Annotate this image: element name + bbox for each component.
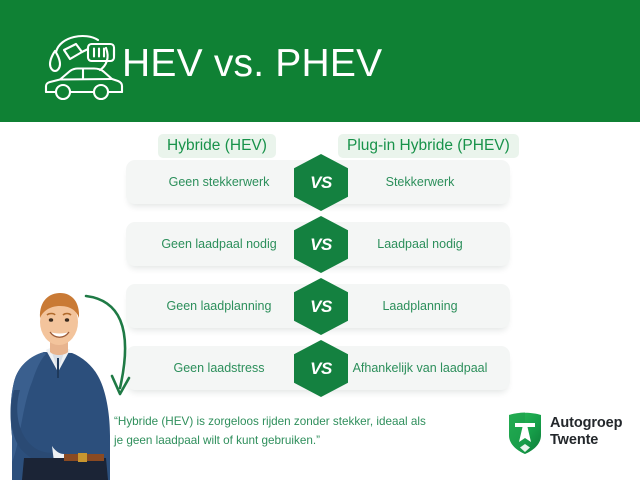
quote-line-1: “Hybride (HEV) is zorgeloos rijden zonde… bbox=[114, 412, 454, 431]
curved-arrow-pointing-to-quote bbox=[84, 292, 144, 404]
brand-logo: Autogroep Twente bbox=[506, 409, 634, 457]
quote-line-2: je geen laadpaal wilt of kunt gebruiken.… bbox=[114, 431, 454, 450]
row-left-value: Geen laadplanning bbox=[126, 284, 312, 328]
hexagon-shape bbox=[294, 340, 348, 397]
vs-badge: VS bbox=[294, 340, 348, 397]
column-header-hev: Hybride (HEV) bbox=[158, 134, 276, 158]
row-right-value: Laadpaal nodig bbox=[330, 222, 510, 266]
hexagon-shape bbox=[294, 216, 348, 273]
brand-name-line-2: Twente bbox=[550, 432, 622, 449]
row-right-value: Afhankelijk van laadpaal bbox=[330, 346, 510, 390]
vs-badge: VS bbox=[294, 278, 348, 335]
shield-a-monogram-icon bbox=[506, 411, 544, 455]
column-header-phev: Plug-in Hybride (PHEV) bbox=[338, 134, 519, 158]
header-banner: HEV vs. PHEV bbox=[0, 0, 640, 122]
quote-text: “Hybride (HEV) is zorgeloos rijden zonde… bbox=[114, 412, 454, 450]
row-left-value: Geen laadstress bbox=[126, 346, 312, 390]
vs-badge: VS bbox=[294, 216, 348, 273]
row-left-value: Geen stekkerwerk bbox=[126, 160, 312, 204]
brand-name-line-1: Autogroep bbox=[550, 415, 622, 432]
hexagon-shape bbox=[294, 278, 348, 335]
vs-badge: VS bbox=[294, 154, 348, 211]
comparison-row: Geen stekkerwerk Stekkerwerk VS bbox=[0, 160, 640, 204]
comparison-row: Geen laadpaal nodig Laadpaal nodig VS bbox=[0, 222, 640, 266]
infographic-root: HEV vs. PHEV Hybride (HEV) Plug-in Hybri… bbox=[0, 0, 640, 480]
brand-name: Autogroep Twente bbox=[550, 415, 622, 449]
row-right-value: Laadplanning bbox=[330, 284, 510, 328]
page-title: HEV vs. PHEV bbox=[122, 36, 382, 92]
hexagon-shape bbox=[294, 154, 348, 211]
row-right-value: Stekkerwerk bbox=[330, 160, 510, 204]
hybrid-car-battery-fuel-icon bbox=[36, 24, 128, 108]
row-left-value: Geen laadpaal nodig bbox=[126, 222, 312, 266]
